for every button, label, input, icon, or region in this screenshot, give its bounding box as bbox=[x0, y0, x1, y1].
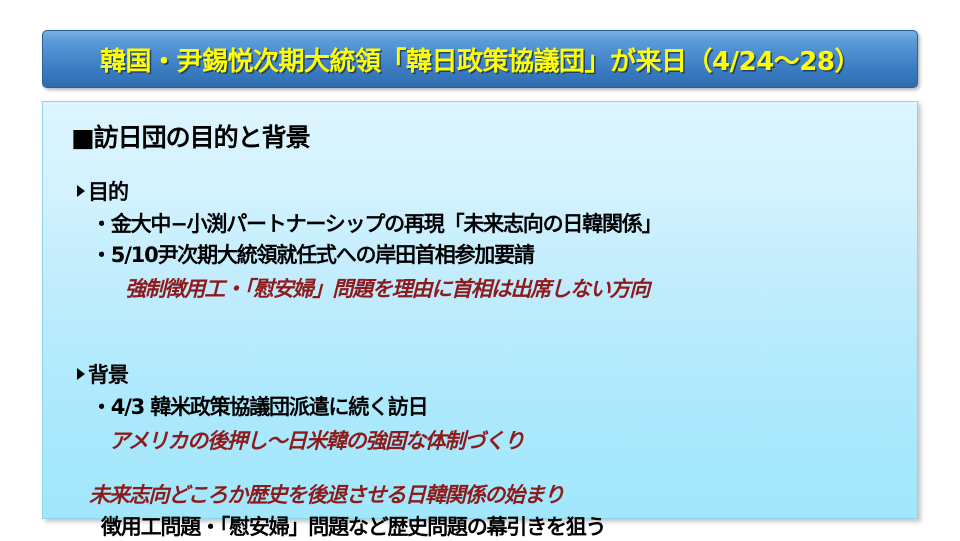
closing-detail: 徴用工問題・「慰安婦」問題など歴史問題の幕引きを狙う bbox=[101, 511, 897, 541]
section-spacer bbox=[63, 305, 897, 331]
section-background-label-row: 背景 bbox=[77, 359, 897, 389]
section-background-label: 背景 bbox=[88, 359, 128, 389]
triangle-marker-icon bbox=[77, 185, 85, 197]
section-background-item-1: ・4/3 韓米政策協議団派遣に続く訪日 bbox=[91, 391, 897, 421]
closing-emphasis: 未来志向どころか歴史を後退させる日韓関係の始まり bbox=[89, 479, 897, 509]
section-background-note: アメリカの後押し～日米韓の強固な体制づくり bbox=[109, 425, 897, 455]
section-purpose-label-row: 目的 bbox=[77, 176, 897, 206]
section-purpose-note: 強制徴用工・「慰安婦」問題を理由に首相は出席しない方向 bbox=[125, 273, 897, 303]
section-purpose: 目的 ・金大中−小渕パートナーシップの再現「未来志向の日韓関係」 ・5/10尹次… bbox=[63, 176, 897, 303]
heading-text: ■訪日団の目的と背景 bbox=[71, 123, 310, 152]
section-purpose-label: 目的 bbox=[88, 176, 128, 206]
slide-title-bar: 韓国・尹錫悦次期大統領「韓日政策協議団」が来日（4/24～28） bbox=[42, 30, 918, 88]
section-purpose-item-1: ・金大中−小渕パートナーシップの再現「未来志向の日韓関係」 bbox=[91, 208, 897, 238]
triangle-marker-icon bbox=[77, 368, 85, 380]
closing-spacer bbox=[63, 457, 897, 475]
slide-title-text: 韓国・尹錫悦次期大統領「韓日政策協議団」が来日（4/24～28） bbox=[100, 41, 860, 78]
closing-block: 未来志向どころか歴史を後退させる日韓関係の始まり 徴用工問題・「慰安婦」問題など… bbox=[63, 479, 897, 541]
section-purpose-item-2: ・5/10尹次期大統領就任式への岸田首相参加要請 bbox=[91, 239, 897, 269]
section-background: 背景 ・4/3 韓米政策協議団派遣に続く訪日 アメリカの後押し～日米韓の強固な体… bbox=[63, 359, 897, 455]
presentation-slide: 韓国・尹錫悦次期大統領「韓日政策協議団」が来日（4/24～28） ■訪日団の目的… bbox=[0, 0, 960, 540]
body-heading: ■訪日団の目的と背景 bbox=[71, 118, 897, 154]
slide-body-panel: ■訪日団の目的と背景 目的 ・金大中−小渕パートナーシップの再現「未来志向の日韓… bbox=[42, 101, 918, 519]
